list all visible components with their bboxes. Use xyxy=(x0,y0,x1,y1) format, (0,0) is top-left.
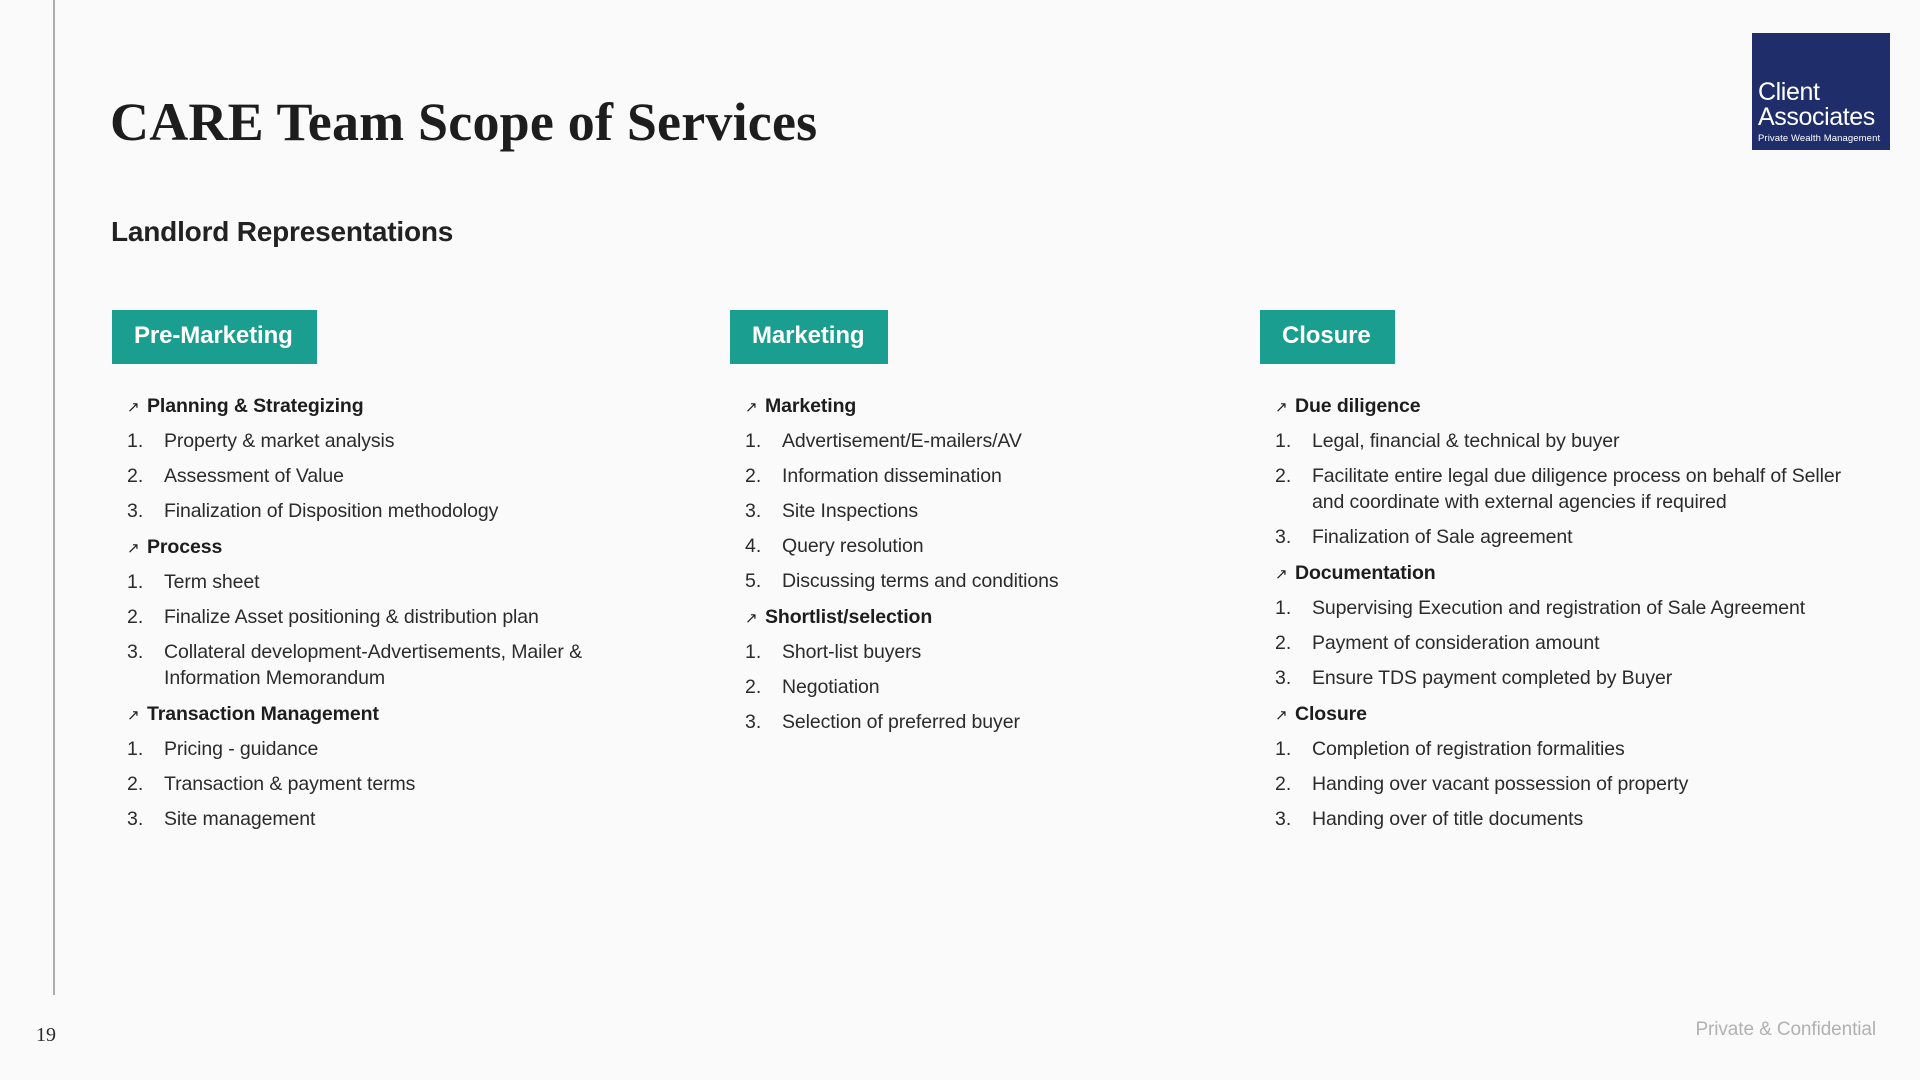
group-items: 1.Property & market analysis 2.Assessmen… xyxy=(127,428,672,524)
group-due-diligence: ↗ Due diligence 1.Legal, financial & tec… xyxy=(1260,395,1850,550)
item-number: 5. xyxy=(745,568,782,594)
page-title: CARE Team Scope of Services xyxy=(110,92,817,152)
list-item: 2.Facilitate entire legal due diligence … xyxy=(1275,463,1850,515)
arrow-up-right-icon: ↗ xyxy=(1275,565,1295,585)
group-items: 1.Advertisement/E-mailers/AV 2.Informati… xyxy=(745,428,1200,594)
list-item: 3.Site management xyxy=(127,806,672,832)
item-text: Transaction & payment terms xyxy=(164,771,415,797)
list-item: 3.Finalization of Sale agreement xyxy=(1275,524,1850,550)
item-text: Finalization of Sale agreement xyxy=(1312,524,1572,550)
list-item: 3.Handing over of title documents xyxy=(1275,806,1850,832)
item-number: 1. xyxy=(127,736,164,762)
arrow-up-right-icon: ↗ xyxy=(127,706,147,726)
item-number: 2. xyxy=(127,463,164,489)
group-items: 1.Short-list buyers 2.Negotiation 3.Sele… xyxy=(745,639,1200,735)
logo-tagline: Private Wealth Management xyxy=(1758,130,1890,146)
item-number: 2. xyxy=(1275,771,1312,797)
group-header: ↗ Documentation xyxy=(1260,562,1850,585)
list-item: 2.Payment of consideration amount xyxy=(1275,630,1850,656)
item-number: 2. xyxy=(1275,463,1312,489)
list-item: 1.Supervising Execution and registration… xyxy=(1275,595,1850,621)
list-item: 2.Finalize Asset positioning & distribut… xyxy=(127,604,672,630)
column-pre-marketing: Pre-Marketing ↗ Planning & Strategizing … xyxy=(112,310,672,832)
item-number: 2. xyxy=(745,463,782,489)
arrow-up-right-icon: ↗ xyxy=(745,609,765,629)
group-title: Planning & Strategizing xyxy=(147,395,364,417)
item-number: 3. xyxy=(1275,524,1312,550)
group-items: 1.Legal, financial & technical by buyer … xyxy=(1275,428,1850,550)
list-item: 1.Term sheet xyxy=(127,569,672,595)
item-text: Completion of registration formalities xyxy=(1312,736,1625,762)
list-item: 5.Discussing terms and conditions xyxy=(745,568,1200,594)
column-marketing: Marketing ↗ Marketing 1.Advertisement/E-… xyxy=(730,310,1200,735)
list-item: 1.Property & market analysis xyxy=(127,428,672,454)
list-item: 2.Information dissemination xyxy=(745,463,1200,489)
group-documentation: ↗ Documentation 1.Supervising Execution … xyxy=(1260,562,1850,691)
item-text: Short-list buyers xyxy=(782,639,921,665)
group-title: Due diligence xyxy=(1295,395,1420,417)
logo-line-2: Associates xyxy=(1758,105,1890,130)
group-items: 1.Pricing - guidance 2.Transaction & pay… xyxy=(127,736,672,832)
arrow-up-right-icon: ↗ xyxy=(1275,706,1295,726)
item-text: Selection of preferred buyer xyxy=(782,709,1020,735)
item-text: Site Inspections xyxy=(782,498,918,524)
item-number: 1. xyxy=(127,569,164,595)
item-number: 4. xyxy=(745,533,782,559)
item-text: Legal, financial & technical by buyer xyxy=(1312,428,1619,454)
arrow-up-right-icon: ↗ xyxy=(1275,398,1295,418)
group-items: 1.Term sheet 2.Finalize Asset positionin… xyxy=(127,569,672,691)
item-number: 3. xyxy=(127,498,164,524)
group-header: ↗ Transaction Management xyxy=(112,703,672,726)
list-item: 3.Collateral development-Advertisements,… xyxy=(127,639,672,691)
group-title: Closure xyxy=(1295,703,1367,725)
group-title: Marketing xyxy=(765,395,856,417)
item-text: Ensure TDS payment completed by Buyer xyxy=(1312,665,1672,691)
group-title: Process xyxy=(147,536,222,558)
item-number: 1. xyxy=(1275,736,1312,762)
logo-line-1: Client xyxy=(1758,80,1890,105)
group-planning-strategizing: ↗ Planning & Strategizing 1.Property & m… xyxy=(112,395,672,524)
list-item: 2.Transaction & payment terms xyxy=(127,771,672,797)
item-number: 3. xyxy=(1275,806,1312,832)
item-number: 2. xyxy=(1275,630,1312,656)
item-number: 2. xyxy=(127,604,164,630)
slide-canvas: Client Associates Private Wealth Managem… xyxy=(0,0,1920,1080)
section-subtitle: Landlord Representations xyxy=(111,216,453,248)
arrow-up-right-icon: ↗ xyxy=(127,398,147,418)
item-number: 3. xyxy=(127,806,164,832)
list-item: 2.Assessment of Value xyxy=(127,463,672,489)
item-text: Collateral development-Advertisements, M… xyxy=(164,639,672,691)
confidentiality-notice: Private & Confidential xyxy=(1695,1019,1876,1041)
item-text: Query resolution xyxy=(782,533,923,559)
group-header: ↗ Marketing xyxy=(730,395,1200,418)
item-number: 1. xyxy=(1275,428,1312,454)
list-item: 1.Short-list buyers xyxy=(745,639,1200,665)
item-number: 3. xyxy=(745,709,782,735)
item-text: Pricing - guidance xyxy=(164,736,318,762)
list-item: 3.Ensure TDS payment completed by Buyer xyxy=(1275,665,1850,691)
company-logo: Client Associates Private Wealth Managem… xyxy=(1752,33,1890,150)
item-number: 1. xyxy=(1275,595,1312,621)
column-header-chip: Pre-Marketing xyxy=(112,310,317,364)
item-text: Information dissemination xyxy=(782,463,1002,489)
group-header: ↗ Shortlist/selection xyxy=(730,606,1200,629)
item-number: 3. xyxy=(1275,665,1312,691)
left-vertical-rule xyxy=(53,0,55,995)
item-text: Negotiation xyxy=(782,674,880,700)
item-text: Discussing terms and conditions xyxy=(782,568,1059,594)
item-number: 3. xyxy=(745,498,782,524)
column-header-chip: Marketing xyxy=(730,310,888,364)
group-list: ↗ Planning & Strategizing 1.Property & m… xyxy=(112,395,672,832)
item-text: Term sheet xyxy=(164,569,259,595)
group-header: ↗ Due diligence xyxy=(1260,395,1850,418)
item-number: 1. xyxy=(127,428,164,454)
group-title: Documentation xyxy=(1295,562,1436,584)
group-process: ↗ Process 1.Term sheet 2.Finalize Asset … xyxy=(112,536,672,691)
group-list: ↗ Marketing 1.Advertisement/E-mailers/AV… xyxy=(730,395,1200,735)
list-item: 3.Selection of preferred buyer xyxy=(745,709,1200,735)
item-text: Finalization of Disposition methodology xyxy=(164,498,498,524)
group-title: Shortlist/selection xyxy=(765,606,932,628)
group-shortlist-selection: ↗ Shortlist/selection 1.Short-list buyer… xyxy=(730,606,1200,735)
item-text: Payment of consideration amount xyxy=(1312,630,1599,656)
group-list: ↗ Due diligence 1.Legal, financial & tec… xyxy=(1260,395,1850,832)
item-text: Assessment of Value xyxy=(164,463,344,489)
item-text: Supervising Execution and registration o… xyxy=(1312,595,1805,621)
group-items: 1.Supervising Execution and registration… xyxy=(1275,595,1850,691)
list-item: 1.Advertisement/E-mailers/AV xyxy=(745,428,1200,454)
list-item: 3.Finalization of Disposition methodolog… xyxy=(127,498,672,524)
group-header: ↗ Planning & Strategizing xyxy=(112,395,672,418)
list-item: 1.Legal, financial & technical by buyer xyxy=(1275,428,1850,454)
item-text: Handing over vacant possession of proper… xyxy=(1312,771,1688,797)
list-item: 1.Pricing - guidance xyxy=(127,736,672,762)
list-item: 3.Site Inspections xyxy=(745,498,1200,524)
list-item: 2.Negotiation xyxy=(745,674,1200,700)
item-text: Finalize Asset positioning & distributio… xyxy=(164,604,539,630)
group-header: ↗ Process xyxy=(112,536,672,559)
item-number: 1. xyxy=(745,639,782,665)
item-text: Property & market analysis xyxy=(164,428,394,454)
group-marketing: ↗ Marketing 1.Advertisement/E-mailers/AV… xyxy=(730,395,1200,594)
group-items: 1.Completion of registration formalities… xyxy=(1275,736,1850,832)
column-closure: Closure ↗ Due diligence 1.Legal, financi… xyxy=(1260,310,1850,832)
item-number: 2. xyxy=(127,771,164,797)
group-transaction-management: ↗ Transaction Management 1.Pricing - gui… xyxy=(112,703,672,832)
item-number: 3. xyxy=(127,639,164,665)
page-number: 19 xyxy=(36,1024,56,1047)
item-text: Advertisement/E-mailers/AV xyxy=(782,428,1022,454)
arrow-up-right-icon: ↗ xyxy=(745,398,765,418)
group-closure: ↗ Closure 1.Completion of registration f… xyxy=(1260,703,1850,832)
item-number: 2. xyxy=(745,674,782,700)
arrow-up-right-icon: ↗ xyxy=(127,539,147,559)
list-item: 4.Query resolution xyxy=(745,533,1200,559)
item-text: Site management xyxy=(164,806,315,832)
list-item: 2.Handing over vacant possession of prop… xyxy=(1275,771,1850,797)
list-item: 1.Completion of registration formalities xyxy=(1275,736,1850,762)
item-text: Handing over of title documents xyxy=(1312,806,1583,832)
item-number: 1. xyxy=(745,428,782,454)
group-title: Transaction Management xyxy=(147,703,379,725)
group-header: ↗ Closure xyxy=(1260,703,1850,726)
column-header-chip: Closure xyxy=(1260,310,1395,364)
item-text: Facilitate entire legal due diligence pr… xyxy=(1312,463,1850,515)
